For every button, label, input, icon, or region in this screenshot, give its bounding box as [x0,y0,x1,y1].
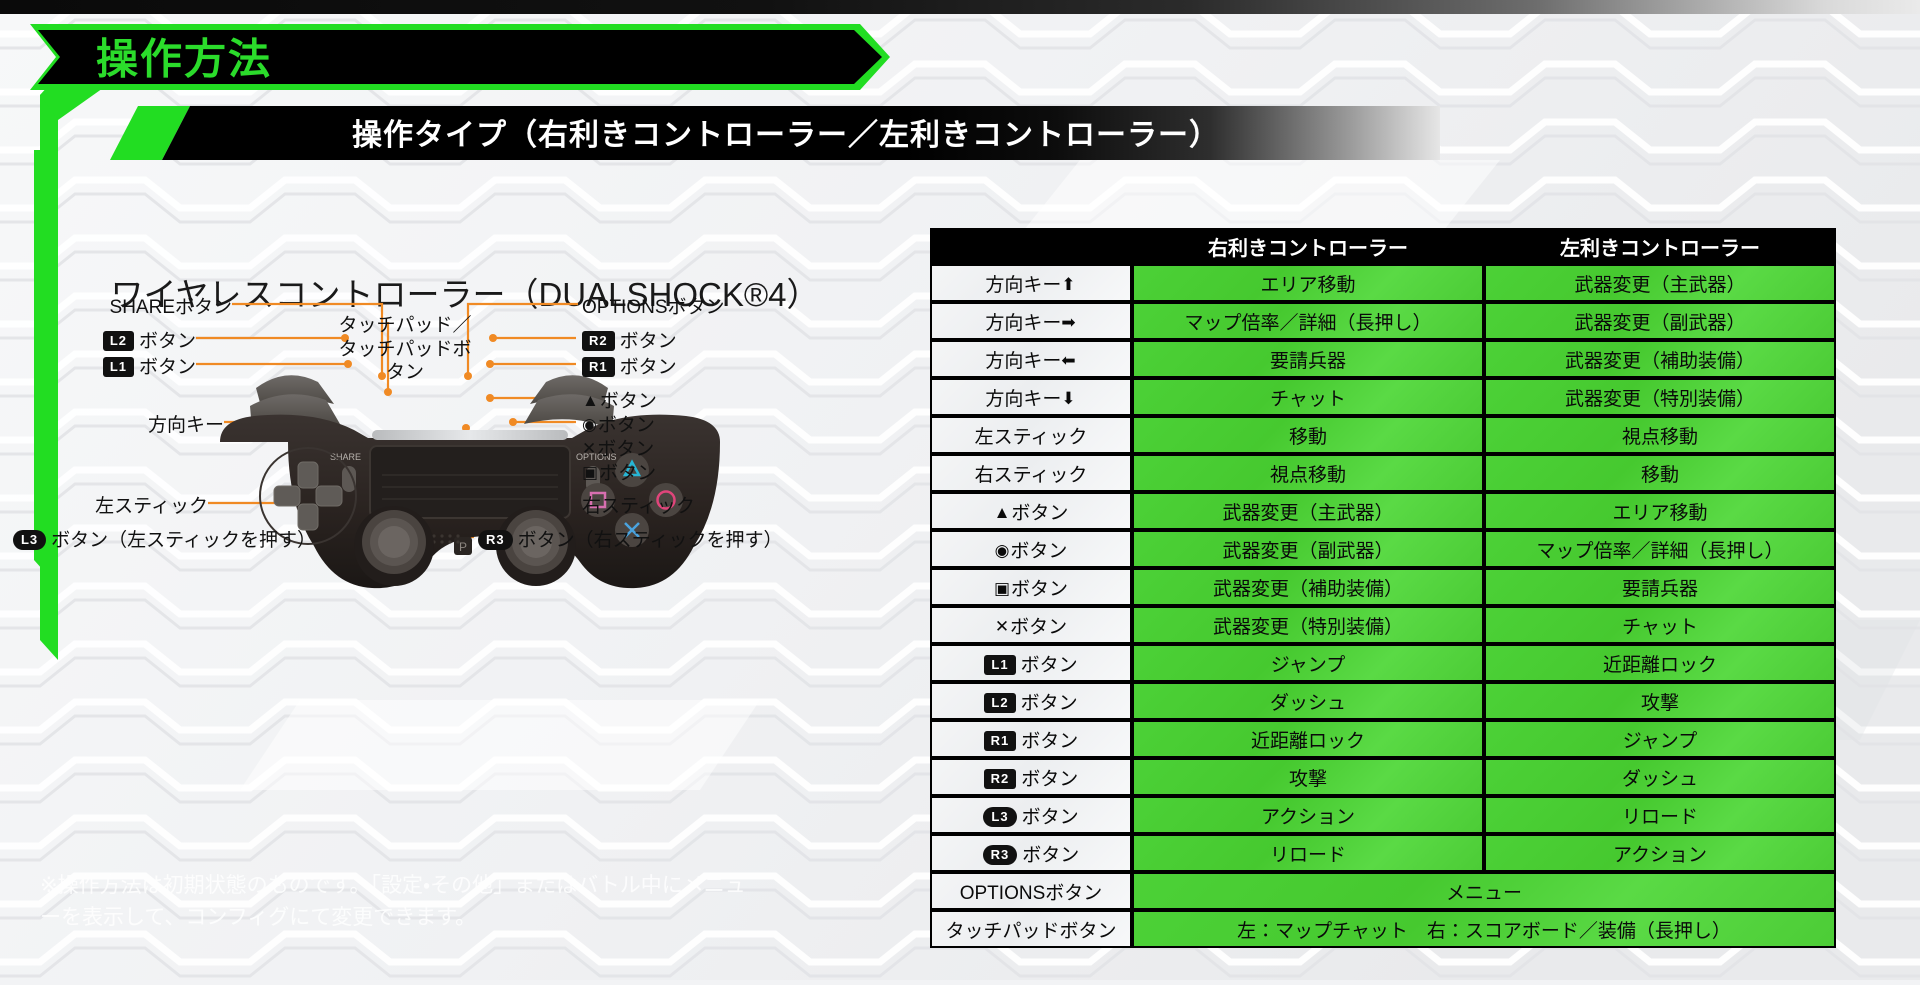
callout-square-button: ▣ボタン [582,458,656,485]
table-cell-right-handed: アクション [1132,796,1484,834]
table-cell-key: L3ボタン [930,796,1132,834]
table-cell-merged-value: メニュー [1132,872,1836,910]
page-title-plate: 操作方法 [30,24,890,90]
table-row-merged: OPTIONSボタンメニュー [930,872,1836,910]
callout-r1-button: R1ボタン [582,352,677,379]
callout-triangle-button: ▲ボタン [582,386,657,413]
callout-r1-button-label: ボタン [620,357,677,378]
callout-right-stick-label: 右スティック [582,496,695,517]
callout-options-button: OPTIONSボタン [582,292,725,319]
callout-touchpad-label: タッチパッド／ タッチパッドボタン [338,315,471,384]
callout-l2-button-label: ボタン [139,331,196,352]
face-button-icon: ▣ [994,579,1010,598]
callout-l3-button-label: ボタン（左スティックを押す） [51,530,316,551]
r1-keycap: R1 [984,731,1017,751]
table-cell-left-handed: ダッシュ [1484,758,1836,796]
table-cell-right-handed: 武器変更（主武器） [1132,492,1484,530]
top-strip [0,0,1920,14]
table-cell-right-handed: マップ倍率／詳細（長押し） [1132,302,1484,340]
table-cell-key-label: 右スティック [975,465,1088,486]
table-cell-key: ▣ボタン [930,568,1132,606]
table-cell-right-handed: 視点移動 [1132,454,1484,492]
table-cell-key: R3ボタン [930,834,1132,872]
dpad-direction-icon: ➡ [1061,313,1075,332]
callout-r3-button-label: ボタン（右スティックを押す） [518,530,783,551]
table-cell-key-label: 左スティック [975,427,1088,448]
table-row: 方向キー⬆エリア移動武器変更（主武器） [930,264,1836,302]
table-cell-key-label: ボタン [1010,541,1067,562]
table-header-blank [930,228,1132,264]
table-cell-left-handed: 要請兵器 [1484,568,1836,606]
triangle-icon: ▲ [582,391,599,410]
table-cell-right-handed: 要請兵器 [1132,340,1484,378]
subtitle-bar: 操作タイプ（右利きコントローラー／左利きコントローラー） [162,106,1440,160]
table-cell-key: L1ボタン [930,644,1132,682]
l2-keycap: L2 [984,693,1015,713]
callout-dpad-label: 方向キー [148,415,224,436]
table-row: L2ボタンダッシュ攻撃 [930,682,1836,720]
table-cell-key: 左スティック [930,416,1132,454]
table-cell-right-handed: 武器変更（特別装備） [1132,606,1484,644]
table-cell-key: タッチパッドボタン [930,910,1132,948]
table-cell-key-label: ボタン [1022,807,1079,828]
callout-circle-button-label: ボタン [598,415,655,436]
table-row: 方向キー➡マップ倍率／詳細（長押し）武器変更（副武器） [930,302,1836,340]
callout-l1-button: L1ボタン [0,352,196,379]
table-row: R3ボタンリロードアクション [930,834,1836,872]
callout-l2-button: L2ボタン [0,326,196,353]
callout-dpad: 方向キー [0,410,224,437]
table-cell-left-handed: 武器変更（副武器） [1484,302,1836,340]
table-cell-key-label: 方向キー [985,313,1061,334]
callout-cross-button-label: ボタン [597,439,654,460]
l1-keycap: L1 [103,357,134,377]
r3-keycap: R3 [478,530,513,550]
callout-triangle-button-label: ボタン [600,391,657,412]
table-cell-key-label: ボタン [1021,769,1078,790]
r2-keycap: R2 [984,769,1017,789]
callout-l1-button-label: ボタン [139,357,196,378]
face-button-icon: ▲ [994,503,1011,522]
dpad-direction-icon: ⬇ [1061,389,1075,408]
table-cell-left-handed: マップ倍率／詳細（長押し） [1484,530,1836,568]
table-cell-right-handed: 攻撃 [1132,758,1484,796]
table-row: ◉ボタン武器変更（副武器）マップ倍率／詳細（長押し） [930,530,1836,568]
table-cell-left-handed: 視点移動 [1484,416,1836,454]
dpad-direction-icon: ⬆ [1061,275,1075,294]
table-cell-key: 方向キー➡ [930,302,1132,340]
table-cell-key: OPTIONSボタン [930,872,1132,910]
table-cell-right-handed: 武器変更（副武器） [1132,530,1484,568]
table-cell-left-handed: 武器変更（主武器） [1484,264,1836,302]
table-cell-left-handed: ジャンプ [1484,720,1836,758]
table-cell-key-label: 方向キー [985,351,1061,372]
callout-touchpad: タッチパッド／ タッチパッドボタン [330,290,480,385]
l2-keycap: L2 [103,331,134,351]
controls-table: 右利きコントローラー 左利きコントローラー 方向キー⬆エリア移動武器変更（主武器… [930,228,1836,948]
table-header-right-handed: 右利きコントローラー [1132,228,1484,264]
table-cell-key: R2ボタン [930,758,1132,796]
table-cell-key-label: ボタン [1011,503,1068,524]
table-row: ▣ボタン武器変更（補助装備）要請兵器 [930,568,1836,606]
table-cell-left-handed: 武器変更（特別装備） [1484,378,1836,416]
table-cell-right-handed: リロード [1132,834,1484,872]
table-cell-left-handed: リロード [1484,796,1836,834]
table-row: ✕ボタン武器変更（特別装備）チャット [930,606,1836,644]
l3-keycap: L3 [983,807,1016,827]
table-cell-key: 方向キー⬇ [930,378,1132,416]
table-row: L1ボタンジャンプ近距離ロック [930,644,1836,682]
table-header-left-handed: 左利きコントローラー [1484,228,1836,264]
r3-keycap: R3 [983,845,1018,865]
page-title: 操作方法 [96,25,272,86]
table-cell-key: L2ボタン [930,682,1132,720]
table-cell-right-handed: 移動 [1132,416,1484,454]
circle-icon: ◉ [582,415,597,434]
table-row: L3ボタンアクションリロード [930,796,1836,834]
table-cell-key: ◉ボタン [930,530,1132,568]
callout-options-button-label: OPTIONSボタン [582,297,725,318]
table-cell-key-label: 方向キー [985,389,1061,410]
table-cell-left-handed: 近距離ロック [1484,644,1836,682]
dpad-direction-icon: ⬅ [1061,351,1075,370]
table-cell-key: ▲ボタン [930,492,1132,530]
callout-r2-button-label: ボタン [620,331,677,352]
callout-cross-button: ✕ボタン [582,434,654,461]
table-cell-right-handed: 武器変更（補助装備） [1132,568,1484,606]
face-button-icon: ◉ [995,541,1010,560]
table-cell-left-handed: 移動 [1484,454,1836,492]
table-cell-key: 方向キー⬆ [930,264,1132,302]
table-row: 左スティック移動視点移動 [930,416,1836,454]
table-row: R2ボタン攻撃ダッシュ [930,758,1836,796]
table-cell-left-handed: チャット [1484,606,1836,644]
table-cell-merged-value: 左：マップチャット 右：スコアボード／装備（長押し） [1132,910,1836,948]
table-cell-left-handed: 武器変更（補助装備） [1484,340,1836,378]
callout-r2-button: R2ボタン [582,326,677,353]
section-subtitle: 操作タイプ（右利きコントローラー／左利きコントローラー） [162,110,1410,154]
table-row: ▲ボタン武器変更（主武器）エリア移動 [930,492,1836,530]
table-row: R1ボタン近距離ロックジャンプ [930,720,1836,758]
l3-keycap: L3 [13,530,46,550]
table-cell-key-label: ボタン [1010,617,1067,638]
callout-r3-button: R3ボタン（右スティックを押す） [478,525,783,552]
face-button-icon: ✕ [995,617,1009,636]
callout-circle-button: ◉ボタン [582,410,655,437]
r2-keycap: R2 [582,331,615,351]
table-cell-right-handed: 近距離ロック [1132,720,1484,758]
table-row: 右スティック視点移動移動 [930,454,1836,492]
table-cell-left-handed: 攻撃 [1484,682,1836,720]
table-cell-key-label: ボタン [1021,655,1078,676]
l1-keycap: L1 [984,655,1015,675]
table-body: 方向キー⬆エリア移動武器変更（主武器）方向キー➡マップ倍率／詳細（長押し）武器変… [930,264,1836,948]
table-cell-key-label: 方向キー [985,275,1061,296]
table-cell-key-label: ボタン [1022,845,1079,866]
callout-l3-button: L3ボタン（左スティックを押す） [0,525,316,552]
table-cell-key: 方向キー⬅ [930,340,1132,378]
section-subtitle-plate: 操作タイプ（右利きコントローラー／左利きコントローラー） [110,106,1440,160]
callout-square-button-label: ボタン [599,463,656,484]
callout-left-stick-label: 左スティック [95,496,208,517]
table-cell-key: ✕ボタン [930,606,1132,644]
table-cell-key: R1ボタン [930,720,1132,758]
table-cell-key-label: ボタン [1021,693,1078,714]
table-row: 方向キー⬅要請兵器武器変更（補助装備） [930,340,1836,378]
table-cell-right-handed: チャット [1132,378,1484,416]
square-icon: ▣ [582,463,598,482]
table-row-merged: タッチパッドボタン左：マップチャット 右：スコアボード／装備（長押し） [930,910,1836,948]
svg-text:P: P [459,540,467,554]
table-cell-right-handed: ジャンプ [1132,644,1484,682]
table-header-row: 右利きコントローラー 左利きコントローラー [930,228,1836,264]
table-cell-key-label: ボタン [1021,731,1078,752]
r1-keycap: R1 [582,357,615,377]
table-cell-left-handed: エリア移動 [1484,492,1836,530]
callout-left-stick: 左スティック [0,491,208,518]
callout-right-stick: 右スティック [582,491,695,518]
footnote: ※操作方法は初期状態のものです。「設定・その他」またはバトル中にメニューを表示し… [40,870,760,933]
table-cell-key: 右スティック [930,454,1132,492]
table-cell-right-handed: ダッシュ [1132,682,1484,720]
cross-icon: ✕ [582,439,596,458]
table-cell-left-handed: アクション [1484,834,1836,872]
callout-share-button-label: SHAREボタン [110,297,232,318]
table-cell-key-label: ボタン [1011,579,1068,600]
callout-share-button: SHAREボタン [0,292,232,319]
table-row: 方向キー⬇チャット武器変更（特別装備） [930,378,1836,416]
table-cell-right-handed: エリア移動 [1132,264,1484,302]
